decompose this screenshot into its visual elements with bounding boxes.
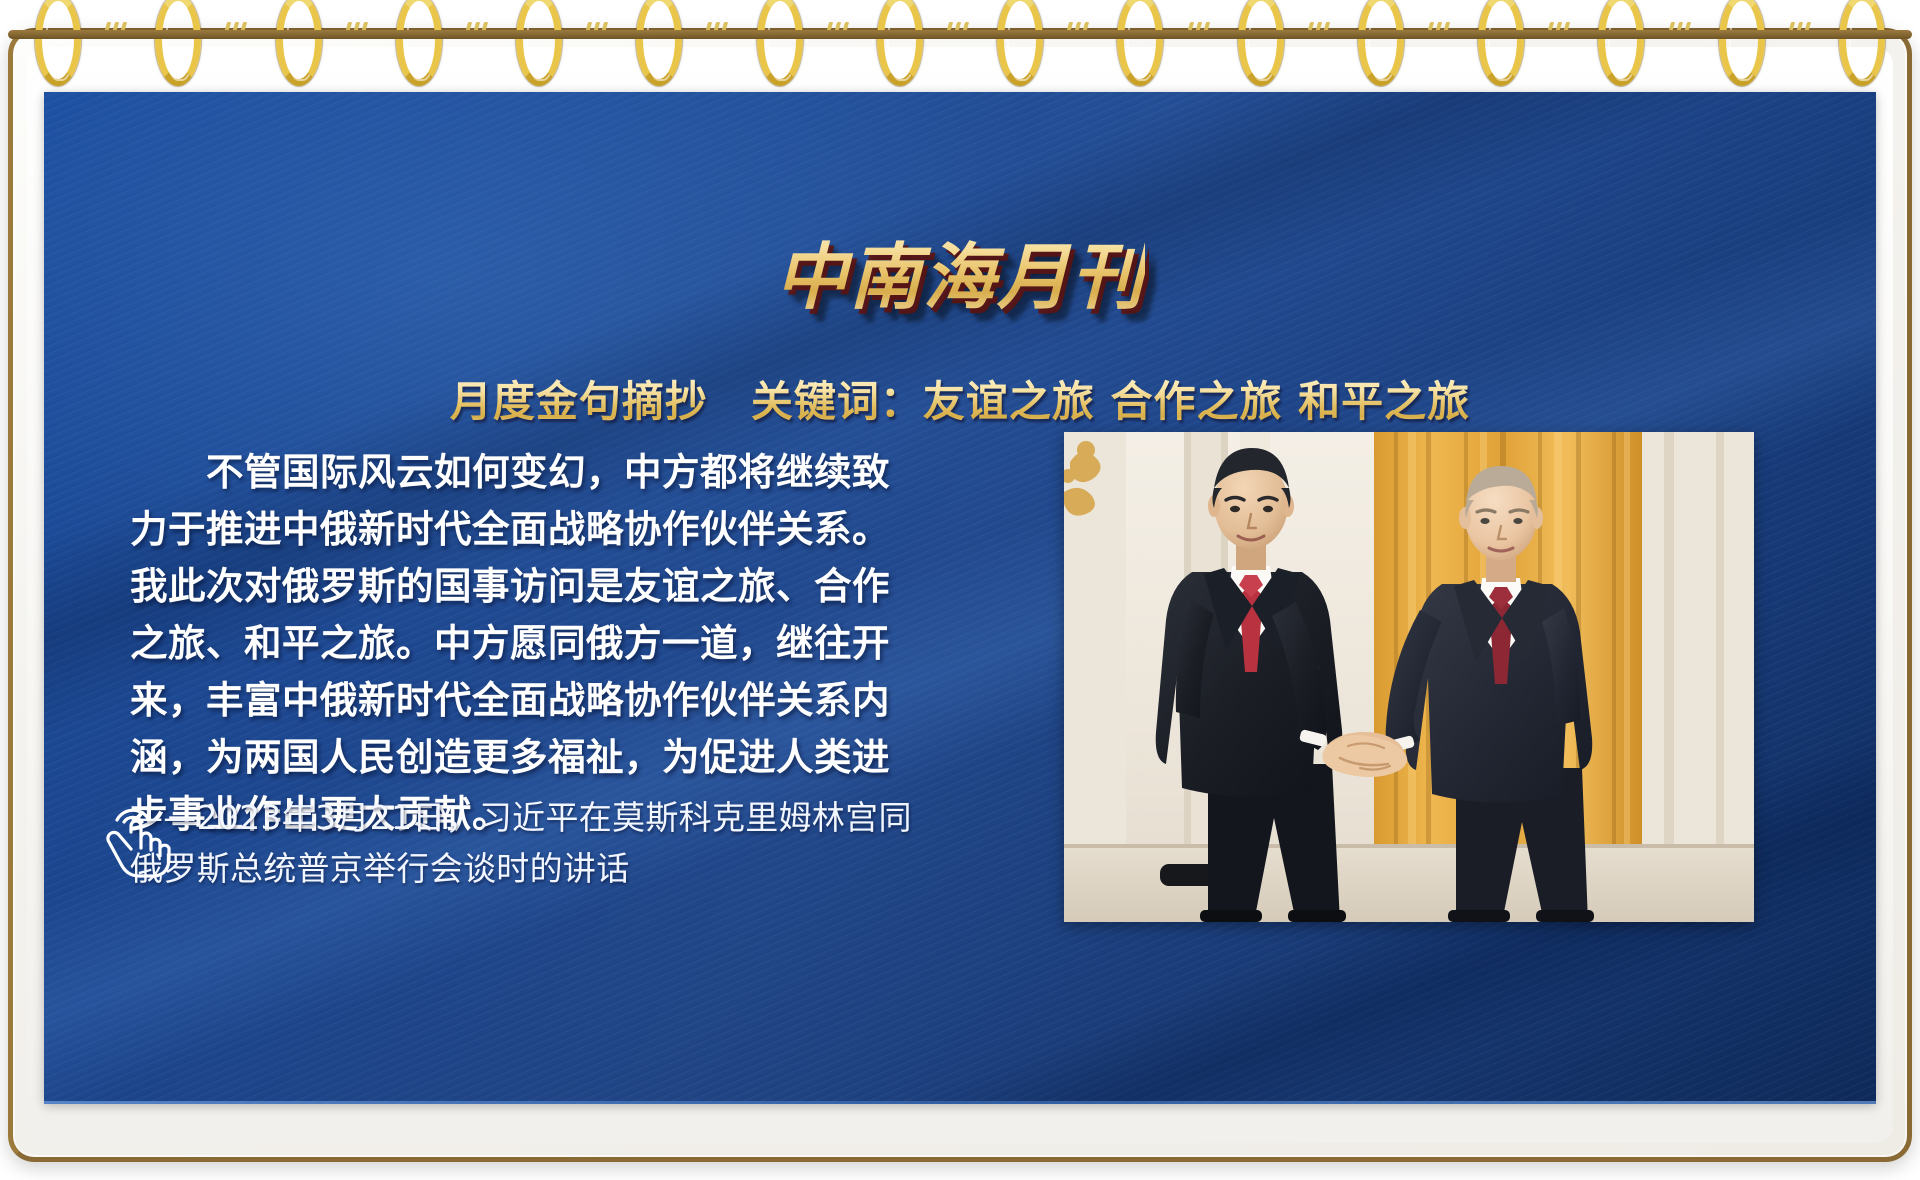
content-card: 中南海月刊 月度金句摘抄 关键词：友谊之旅 合作之旅 和平之旅 不管国际风云如何…	[44, 92, 1876, 1104]
masthead: 中南海月刊	[44, 218, 1876, 323]
photo-illustration	[1064, 432, 1754, 922]
tap-hand-glyph	[99, 792, 173, 878]
binder-bar	[8, 30, 1912, 39]
leaders-handshake-photo	[1064, 432, 1754, 922]
quote-attribution: ——2023年3月21日，习近平在莫斯科克里姆林宫同俄罗斯总统普京举行会谈时的讲…	[130, 792, 920, 894]
page-title: 中南海月刊	[775, 218, 1145, 323]
notebook-page: 中南海月刊 月度金句摘抄 关键词：友谊之旅 合作之旅 和平之旅 不管国际风云如何…	[0, 0, 1920, 1180]
tap-hand-icon[interactable]	[99, 792, 173, 878]
subtitle-keywords: 月度金句摘抄 关键词：友谊之旅 合作之旅 和平之旅	[44, 368, 1876, 429]
quote-body: 不管国际风云如何变幻，中方都将继续致力于推进中俄新时代全面战略协作伙伴关系。我此…	[130, 444, 900, 843]
card-bottom-highlight	[44, 1101, 1876, 1104]
